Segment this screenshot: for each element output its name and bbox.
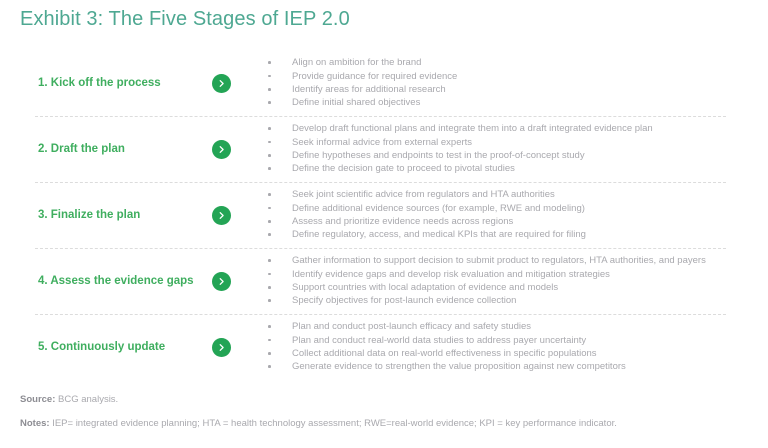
bullet-text: Provide guidance for required evidence — [292, 71, 457, 82]
notes-label: Notes: — [20, 418, 50, 429]
bullet-list: Plan and conduct post-launch efficacy an… — [268, 320, 758, 374]
bullet-text: Define hypotheses and endpoints to test … — [292, 150, 585, 161]
bullet-dot-icon — [268, 141, 271, 144]
bullet-text: Define initial shared objectives — [292, 97, 420, 108]
bullet-list: Align on ambition for the brandProvide g… — [268, 56, 758, 110]
chevron-right-icon[interactable] — [212, 140, 231, 159]
bullet-dot-icon — [268, 88, 271, 91]
source-text: BCG analysis. — [55, 394, 118, 405]
bullet-text: Generate evidence to strengthen the valu… — [292, 361, 626, 372]
stage-label: 3. Finalize the plan — [38, 208, 203, 222]
list-item: Identify evidence gaps and develop risk … — [268, 268, 758, 281]
chevron-right-icon[interactable] — [212, 74, 231, 93]
list-item: Define hypotheses and endpoints to test … — [268, 149, 758, 162]
bullet-dot-icon — [268, 259, 271, 262]
bullet-dot-icon — [268, 75, 271, 78]
list-item: Define regulatory, access, and medical K… — [268, 228, 758, 241]
stage-row: 4. Assess the evidence gapsGather inform… — [0, 248, 768, 314]
divider-line — [35, 314, 726, 315]
stages-list: 1. Kick off the processAlign on ambition… — [0, 50, 768, 380]
bullet-dot-icon — [268, 365, 271, 368]
stage-row: 5. Continuously updatePlan and conduct p… — [0, 314, 768, 380]
bullet-dot-icon — [268, 193, 271, 196]
source-line: Source: BCG analysis. — [20, 394, 760, 407]
bullet-dot-icon — [268, 101, 271, 104]
bullet-dot-icon — [268, 233, 271, 236]
bullet-text: Support countries with local adaptation … — [292, 282, 558, 293]
list-item: Provide guidance for required evidence — [268, 70, 758, 83]
list-item: Specify objectives for post-launch evide… — [268, 294, 758, 307]
list-item: Generate evidence to strengthen the valu… — [268, 360, 758, 373]
notes-text: IEP= integrated evidence planning; HTA =… — [50, 418, 617, 429]
bullet-dot-icon — [268, 352, 271, 355]
list-item: Align on ambition for the brand — [268, 56, 758, 69]
divider-line — [35, 182, 726, 183]
bullet-text: Gather information to support decision t… — [292, 255, 706, 266]
stage-label: 1. Kick off the process — [38, 76, 203, 90]
bullet-dot-icon — [268, 220, 271, 223]
bullet-text: Plan and conduct real-world data studies… — [292, 335, 586, 346]
bullet-text: Assess and prioritize evidence needs acr… — [292, 216, 513, 227]
bullet-dot-icon — [268, 61, 271, 64]
bullet-list: Gather information to support decision t… — [268, 254, 758, 308]
chevron-right-icon[interactable] — [212, 272, 231, 291]
row-divider — [0, 248, 768, 249]
chevron-right-icon[interactable] — [212, 338, 231, 357]
bullet-dot-icon — [268, 154, 271, 157]
source-label: Source: — [20, 394, 55, 405]
bullet-dot-icon — [268, 127, 271, 130]
list-item: Collect additional data on real-world ef… — [268, 347, 758, 360]
bullet-text: Develop draft functional plans and integ… — [292, 123, 653, 134]
list-item: Identify areas for additional research — [268, 83, 758, 96]
row-divider — [0, 182, 768, 183]
bullet-dot-icon — [268, 286, 271, 289]
bullet-text: Define the decision gate to proceed to p… — [292, 163, 515, 174]
list-item: Define additional evidence sources (for … — [268, 202, 758, 215]
list-item: Seek informal advice from external exper… — [268, 136, 758, 149]
bullet-text: Identify evidence gaps and develop risk … — [292, 269, 610, 280]
list-item: Define initial shared objectives — [268, 96, 758, 109]
list-item: Assess and prioritize evidence needs acr… — [268, 215, 758, 228]
chevron-right-icon[interactable] — [212, 206, 231, 225]
list-item: Define the decision gate to proceed to p… — [268, 162, 758, 175]
row-divider — [0, 314, 768, 315]
stage-label: 2. Draft the plan — [38, 142, 203, 156]
bullet-list: Seek joint scientific advice from regula… — [268, 188, 758, 242]
bullet-text: Identify areas for additional research — [292, 84, 446, 95]
notes-line: Notes: IEP= integrated evidence planning… — [20, 418, 760, 431]
row-divider — [0, 50, 768, 51]
footer: Source: BCG analysis. Notes: IEP= integr… — [20, 394, 760, 431]
stage-row: 3. Finalize the planSeek joint scientifi… — [0, 182, 768, 248]
page-title: Exhibit 3: The Five Stages of IEP 2.0 — [20, 8, 350, 31]
bullet-dot-icon — [268, 299, 271, 302]
bullet-dot-icon — [268, 167, 271, 170]
stage-label: 4. Assess the evidence gaps — [38, 274, 203, 288]
bullet-text: Align on ambition for the brand — [292, 57, 421, 68]
bullet-dot-icon — [268, 273, 271, 276]
divider-line — [35, 116, 726, 117]
bullet-text: Plan and conduct post-launch efficacy an… — [292, 321, 531, 332]
bullet-list: Develop draft functional plans and integ… — [268, 122, 758, 176]
bullet-dot-icon — [268, 339, 271, 342]
bullet-text: Seek joint scientific advice from regula… — [292, 189, 555, 200]
stage-label: 5. Continuously update — [38, 340, 203, 354]
stage-row: 2. Draft the planDevelop draft functiona… — [0, 116, 768, 182]
bullet-dot-icon — [268, 207, 271, 210]
list-item: Gather information to support decision t… — [268, 254, 758, 267]
exhibit-container: Exhibit 3: The Five Stages of IEP 2.0 1.… — [0, 0, 768, 448]
bullet-dot-icon — [268, 325, 271, 328]
list-item: Plan and conduct real-world data studies… — [268, 334, 758, 347]
list-item: Develop draft functional plans and integ… — [268, 122, 758, 135]
bullet-text: Seek informal advice from external exper… — [292, 137, 472, 148]
list-item: Seek joint scientific advice from regula… — [268, 188, 758, 201]
list-item: Support countries with local adaptation … — [268, 281, 758, 294]
row-divider — [0, 116, 768, 117]
bullet-text: Define additional evidence sources (for … — [292, 203, 585, 214]
bullet-text: Specify objectives for post-launch evide… — [292, 295, 516, 306]
divider-line — [35, 248, 726, 249]
stage-row: 1. Kick off the processAlign on ambition… — [0, 50, 768, 116]
bullet-text: Collect additional data on real-world ef… — [292, 348, 597, 359]
bullet-text: Define regulatory, access, and medical K… — [292, 229, 586, 240]
list-item: Plan and conduct post-launch efficacy an… — [268, 320, 758, 333]
